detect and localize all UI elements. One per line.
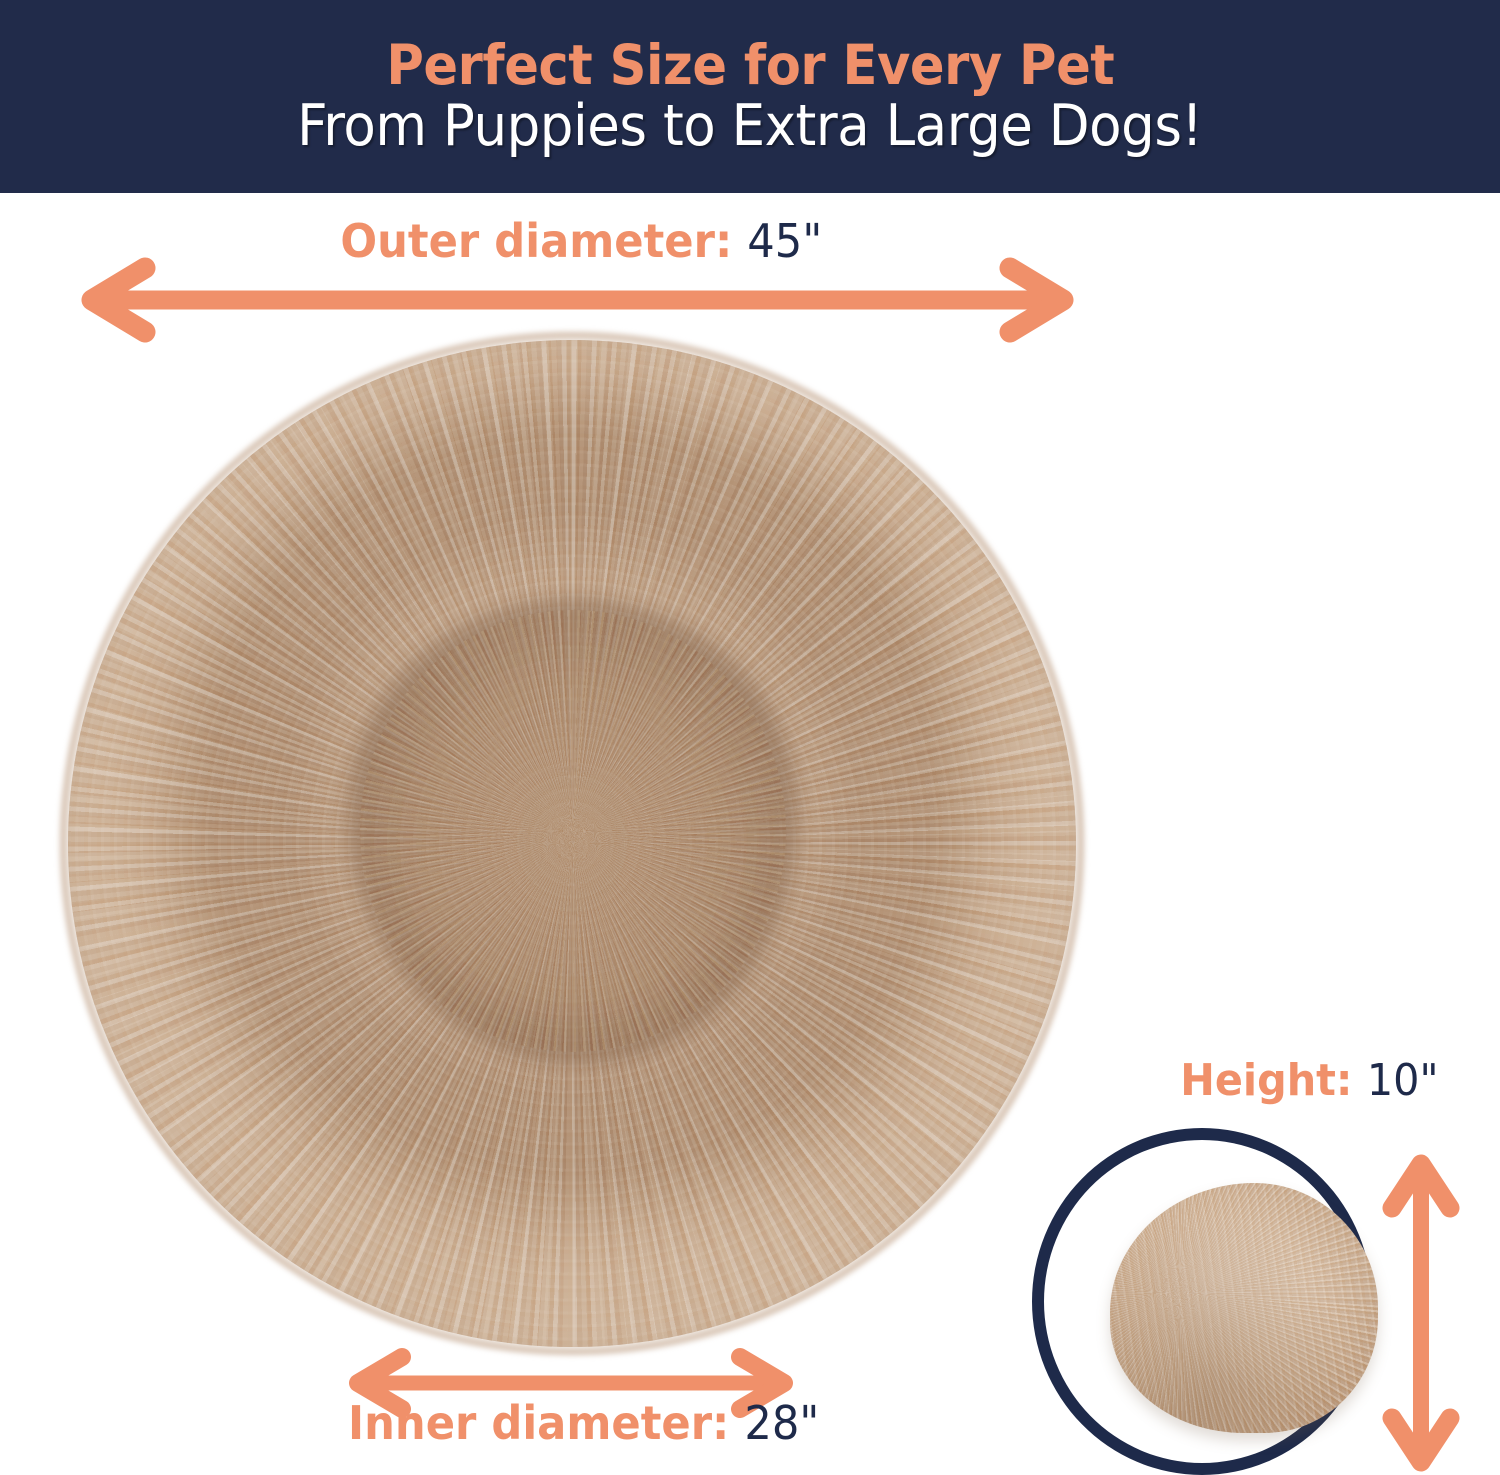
pet-bed-side-view-image	[1110, 1183, 1378, 1433]
pet-bed-top-view-image	[68, 340, 1076, 1347]
inner-diameter-value: 28"	[744, 1396, 819, 1450]
height-value: 10"	[1367, 1055, 1439, 1106]
inner-diameter-label-text: Inner diameter:	[348, 1396, 729, 1450]
page-subtitle: From Puppies to Extra Large Dogs!	[297, 97, 1202, 157]
outer-diameter-label: Outer diameter: 45"	[340, 214, 822, 268]
inner-diameter-label: Inner diameter: 28"	[348, 1396, 819, 1450]
outer-diameter-value: 45"	[747, 214, 822, 268]
outer-diameter-arrow-icon	[70, 262, 1085, 338]
header-banner: Perfect Size for Every Pet From Puppies …	[0, 0, 1500, 193]
height-arrow-icon	[1382, 1150, 1460, 1475]
infographic-page: Perfect Size for Every Pet From Puppies …	[0, 0, 1500, 1475]
pet-bed-side-view-group	[1032, 1128, 1372, 1475]
outer-diameter-label-text: Outer diameter:	[340, 214, 732, 268]
page-title: Perfect Size for Every Pet	[386, 37, 1114, 93]
height-label: Height: 10"	[1180, 1055, 1438, 1106]
height-label-text: Height:	[1180, 1055, 1352, 1106]
